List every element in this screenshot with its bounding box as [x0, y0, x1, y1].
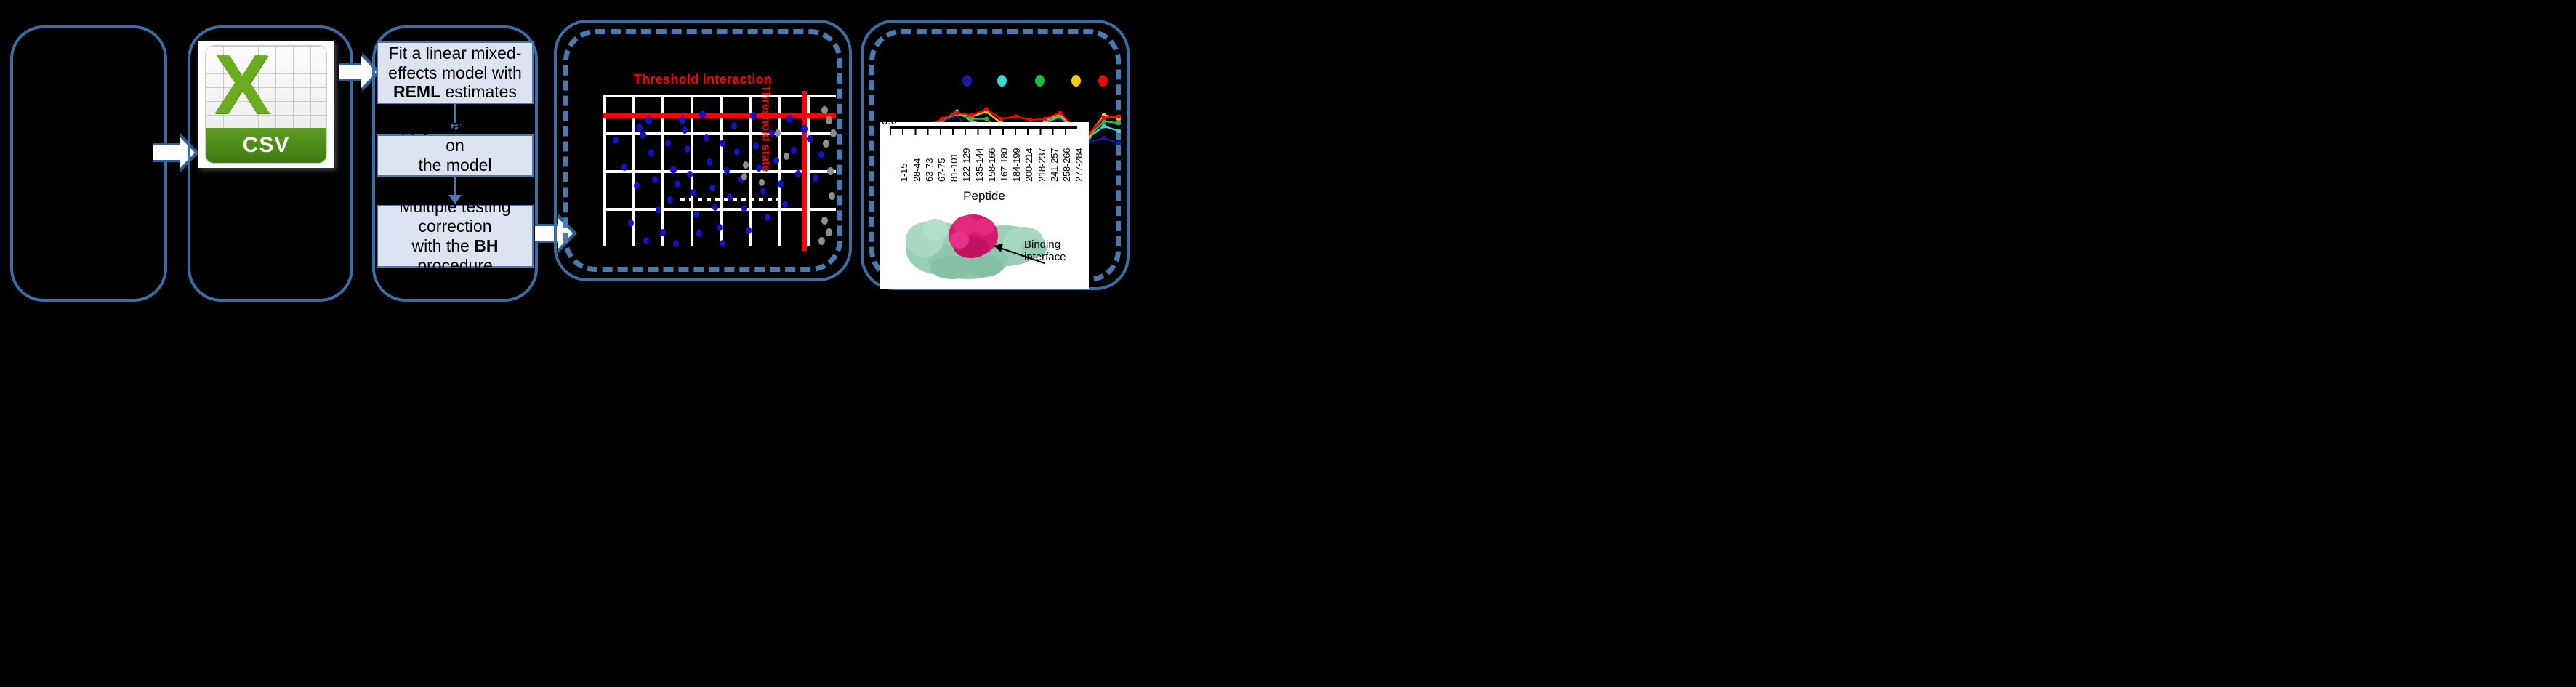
- scatter-point: [795, 170, 801, 177]
- connector-wald-to-bh: [454, 177, 456, 196]
- scatter-point: [724, 167, 730, 174]
- bh-line-3-post: procedure: [417, 256, 493, 275]
- scatter-point: [741, 205, 747, 212]
- threshold-scatter-content: Threshold interaction: [554, 20, 852, 281]
- x-tick-label: 200-214: [1023, 148, 1034, 182]
- scatter-point: [699, 111, 706, 118]
- scatter-point: [720, 240, 725, 247]
- scatter-point: [760, 188, 766, 195]
- wald-keyword: Wald tests: [437, 116, 520, 135]
- x-tick-label: 167-180: [999, 148, 1010, 182]
- x-tick-label: 63-73: [924, 158, 935, 182]
- reml-keyword: REML: [393, 82, 440, 101]
- csv-file-icon[interactable]: X CSV: [198, 41, 334, 168]
- scatter-point: [682, 126, 688, 134]
- scatter-point: [648, 149, 654, 156]
- scatter-point: [801, 125, 808, 133]
- x-tick-label: 67-75: [936, 158, 947, 182]
- peptide-series-point: [984, 107, 989, 111]
- scatter-point-ns: [784, 153, 789, 160]
- scatter-point: [613, 137, 619, 144]
- scatter-point: [746, 227, 752, 234]
- peptide-series-point: [1102, 116, 1106, 120]
- bh-line-1: Multiple testing: [399, 197, 510, 216]
- wald-line-1-pre: Apply: [390, 116, 437, 135]
- x-axis-title: Peptide: [880, 189, 1089, 204]
- scatter-point: [712, 204, 718, 211]
- scatter-point: [645, 116, 652, 124]
- scatter-point: [807, 135, 813, 142]
- peptide-series-point: [999, 116, 1003, 121]
- x-tick-label: 135-144: [974, 148, 985, 182]
- scatter-point: [640, 131, 646, 139]
- reml-line-3-rest: estimates: [440, 82, 517, 101]
- scatter-point: [709, 185, 715, 192]
- scatter-point: [634, 182, 640, 189]
- scatter-point: [667, 196, 673, 204]
- wald-line-1-post: on: [446, 136, 464, 155]
- x-tick-label: 184-199: [1011, 148, 1022, 182]
- scatter-point-ns: [830, 129, 837, 137]
- scatter-point: [818, 151, 824, 158]
- peptide-axis-and-structure-card: 0.0 1-1528-4463-7367-7581-101122-129135-…: [880, 122, 1089, 289]
- arrow-csv-to-flow-shaft: [339, 63, 363, 81]
- threshold-interaction-line: [603, 113, 836, 118]
- binding-label-line-2: interface: [1024, 251, 1066, 263]
- x-tick-label: 158-166: [986, 148, 997, 182]
- peptide-series-point: [1116, 141, 1121, 145]
- peptide-series-point: [1102, 136, 1106, 140]
- scatter-point-ns: [826, 116, 832, 124]
- scatter-point-ns: [818, 237, 825, 245]
- scatter-point-ns: [827, 167, 834, 175]
- peptide-series-point: [1013, 114, 1018, 118]
- arrow-source-to-csv-shaft: [153, 143, 182, 162]
- binding-label-line-1: Binding: [1024, 238, 1060, 251]
- scatter-point: [652, 176, 658, 183]
- scatter-point-ns: [823, 140, 829, 148]
- scatter-point: [720, 140, 725, 147]
- threshold-state-label: Threshold state: [759, 85, 772, 172]
- x-tick-label: 122-129: [961, 148, 972, 182]
- bh-keyword: BH: [474, 236, 498, 255]
- scatter-point: [685, 145, 691, 153]
- scatter-point: [765, 214, 770, 221]
- peptide-series-point: [955, 111, 959, 115]
- x-tick-label: 218-237: [1037, 148, 1047, 182]
- scatter-point: [675, 180, 680, 188]
- x-tick-label: 1-15: [898, 164, 909, 182]
- csv-icon-label: CSV: [243, 133, 290, 158]
- scatter-point: [660, 229, 666, 236]
- step-box-wald[interactable]: Apply Wald tests on the model parameters: [377, 134, 534, 177]
- scatter-point: [731, 122, 737, 129]
- peptide-series-point: [1116, 129, 1121, 133]
- scatter-point-ns: [829, 192, 835, 200]
- scatter-point: [753, 142, 759, 150]
- data-source-panel: [10, 25, 167, 302]
- peptide-series-point: [1043, 116, 1047, 121]
- scatter-point: [782, 201, 788, 208]
- scatter-point: [707, 158, 712, 166]
- step-box-reml-text: Fit a linear mixed- effects model with R…: [385, 44, 526, 103]
- csv-icon-body: X CSV: [205, 45, 327, 164]
- scatter-point: [643, 237, 649, 244]
- scatter-point-ns: [759, 179, 765, 186]
- scatter-point-ns: [821, 106, 828, 114]
- scatter-point: [696, 230, 702, 237]
- x-tick-label: 28-44: [911, 158, 922, 182]
- threshold-interaction-label: Threshold interaction: [554, 72, 852, 87]
- binding-interface-annotation: Binding interface: [1024, 238, 1087, 264]
- scatter-point: [665, 140, 671, 147]
- scatter-point: [691, 189, 696, 196]
- step-box-bh[interactable]: Multiple testing correction with the BH …: [377, 205, 534, 268]
- scatter-point: [687, 171, 693, 178]
- step-box-reml[interactable]: Fit a linear mixed- effects model with R…: [377, 41, 534, 104]
- scatter-point-ns: [826, 228, 832, 236]
- x-tick-label: 258-266: [1061, 148, 1072, 182]
- scatter-point: [656, 206, 661, 214]
- scatter-point: [670, 166, 677, 174]
- reml-line-2: effects model with: [388, 63, 522, 82]
- peptide-series-point: [1116, 121, 1121, 125]
- scatter-point: [628, 220, 634, 227]
- scatter-point: [673, 240, 679, 247]
- x-tick-label: 241-257: [1049, 148, 1060, 182]
- workflow-diagram: X CSV Fit a linear mixed- effects model …: [0, 0, 2576, 687]
- x-tick-label: 81-101: [949, 153, 959, 182]
- scatter-point: [750, 112, 757, 120]
- scatter-point: [679, 116, 685, 124]
- x-axis-tick-labels: 1-1528-4463-7367-7581-101122-129135-1441…: [890, 137, 1077, 186]
- peptide-series-point: [1102, 124, 1106, 128]
- peptide-series-point: [970, 113, 974, 117]
- x-axis-ticks: [890, 129, 1077, 135]
- scatter-point-ns: [741, 173, 747, 180]
- scatter-point: [778, 180, 784, 188]
- scatter-point: [791, 147, 797, 154]
- scatter-point: [786, 115, 793, 123]
- bh-line-2: correction: [419, 217, 492, 236]
- x-tick-label: 277-284: [1074, 148, 1084, 182]
- scatter-plot-area: [603, 95, 836, 246]
- peptide-series-point: [984, 116, 989, 121]
- scatter-point: [773, 157, 779, 164]
- bh-line-3-pre: with the: [412, 236, 475, 255]
- scatter-point-ns: [775, 129, 781, 137]
- scatter-point-ns: [821, 217, 828, 225]
- scatter-point: [717, 224, 723, 231]
- scatter-point: [704, 134, 709, 142]
- scatter-point: [734, 148, 740, 156]
- scatter-point: [621, 164, 627, 171]
- peptide-series-point: [940, 116, 944, 121]
- threshold-state-line: [802, 91, 807, 251]
- reml-line-1: Fit a linear mixed-: [389, 44, 522, 63]
- peptide-series-point: [1116, 114, 1121, 118]
- scatter-point: [693, 211, 699, 218]
- scatter-point: [813, 174, 818, 182]
- scatter-point-ns: [743, 161, 749, 169]
- excel-x-letter: X: [209, 49, 275, 120]
- step-box-bh-text: Multiple testing correction with the BH …: [378, 197, 532, 276]
- scatter-point: [727, 193, 733, 201]
- csv-icon-band: CSV: [206, 128, 326, 163]
- peptide-series-point: [1058, 111, 1062, 115]
